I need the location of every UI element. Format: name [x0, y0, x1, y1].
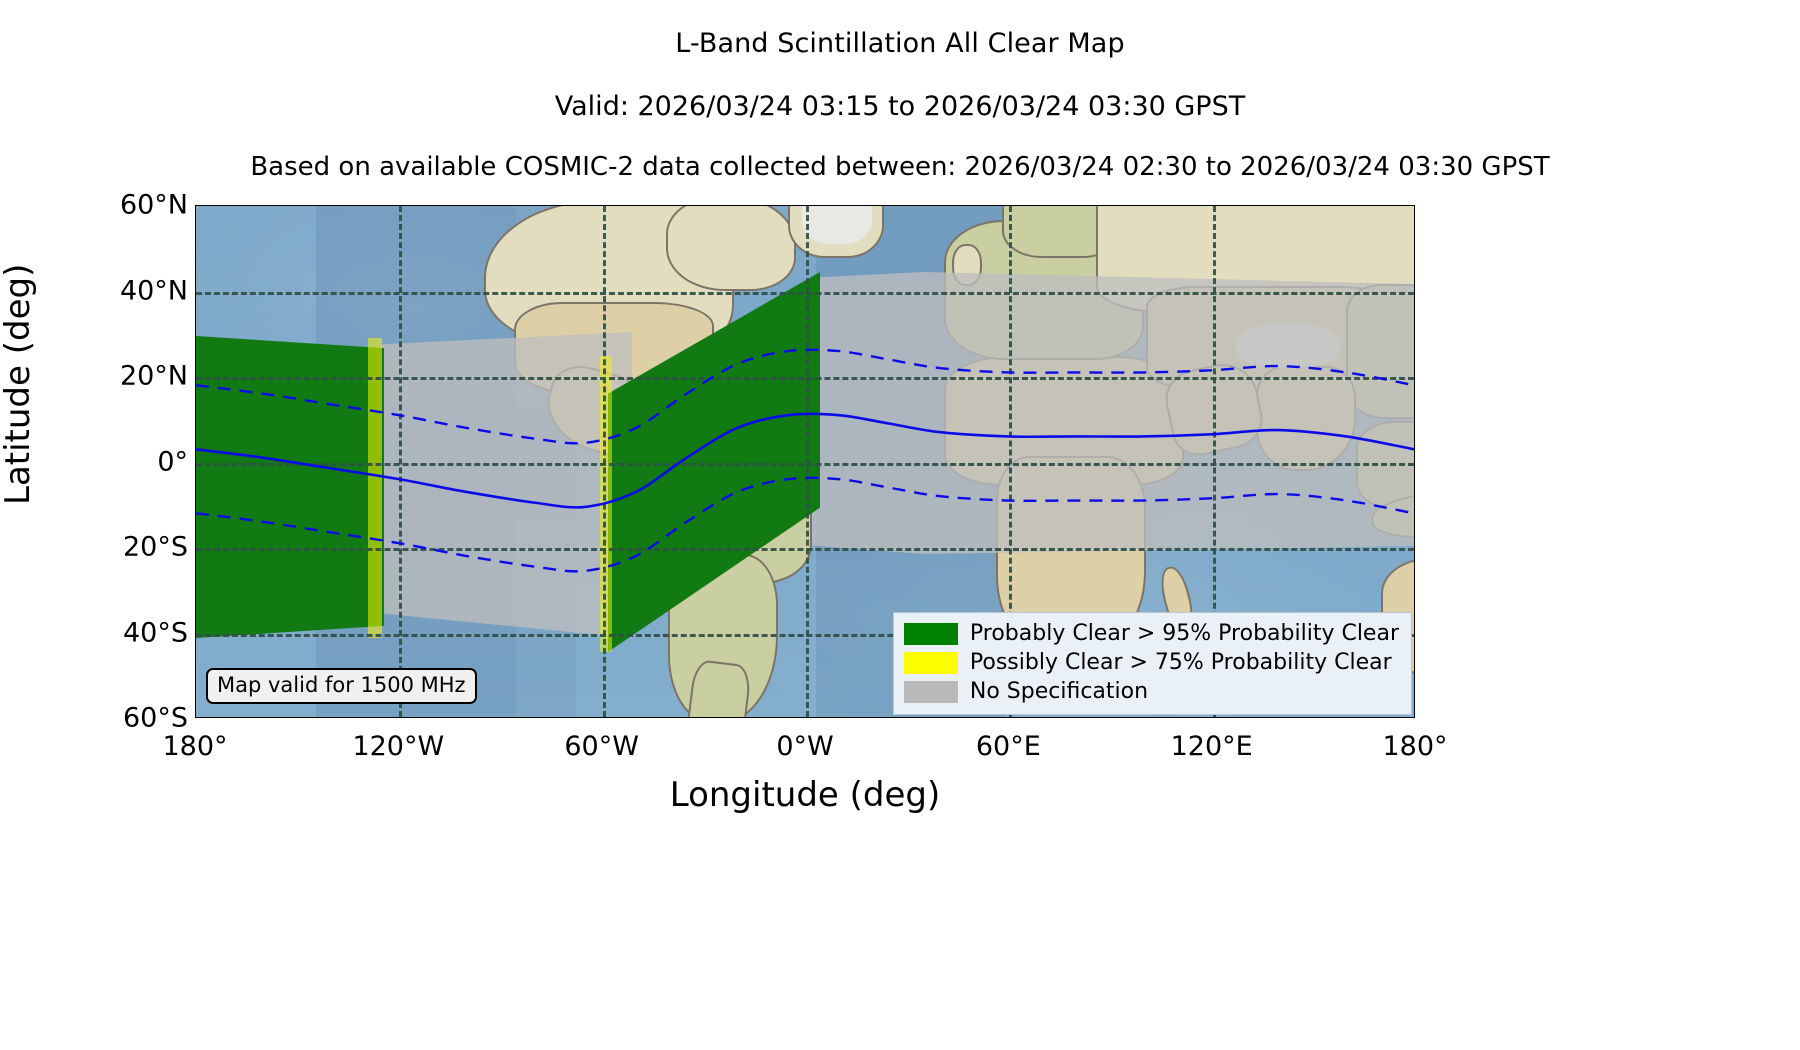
legend-label-no-specification: No Specification: [970, 679, 1148, 704]
legend-label-probably-clear: Probably Clear > 95% Probability Clear: [970, 621, 1399, 646]
frequency-annotation: Map valid for 1500 MHz: [206, 668, 477, 704]
data-source-note: Based on available COSMIC-2 data collect…: [0, 152, 1800, 182]
x-tick-1: [399, 717, 401, 718]
page-title: L-Band Scintillation All Clear Map: [0, 28, 1800, 59]
x-tick-2: [603, 717, 605, 718]
map-plot-area[interactable]: Map valid for 1500 MHz Probably Clear > …: [195, 205, 1415, 718]
y-tick-4: [195, 548, 196, 550]
legend-item-no-specification: No Specification: [904, 677, 1399, 706]
magnetic-equator-curve: [196, 414, 1414, 508]
y-axis-title: Latitude (deg): [0, 264, 38, 505]
northern-boundary-curve: [196, 350, 1414, 444]
southern-boundary-curve: [196, 478, 1414, 572]
y-tick-label-6: 60°S: [0, 703, 188, 734]
title-block: L-Band Scintillation All Clear Map Valid…: [0, 0, 1800, 182]
x-tick-4: [1009, 717, 1011, 718]
legend-swatch-yellow: [904, 652, 958, 674]
legend-swatch-green: [904, 623, 958, 645]
legend-item-probably-clear: Probably Clear > 95% Probability Clear: [904, 619, 1399, 648]
x-tick-label-6: 180°: [1265, 731, 1565, 762]
y-tick-label-4: 20°S: [0, 532, 188, 563]
y-tick-1: [195, 292, 196, 294]
x-axis-title: Longitude (deg): [670, 775, 941, 815]
legend: Probably Clear > 95% Probability Clear P…: [893, 612, 1412, 715]
legend-item-possibly-clear: Possibly Clear > 75% Probability Clear: [904, 648, 1399, 677]
legend-swatch-gray: [904, 681, 958, 703]
x-tick-3: [806, 717, 808, 718]
valid-period: Valid: 2026/03/24 03:15 to 2026/03/24 03…: [0, 91, 1800, 122]
y-tick-0: [195, 206, 196, 208]
x-tick-5: [1213, 717, 1215, 718]
x-tick-0: [196, 717, 198, 718]
y-tick-3: [195, 463, 196, 465]
y-tick-2: [195, 377, 196, 379]
y-tick-5: [195, 634, 196, 636]
legend-label-possibly-clear: Possibly Clear > 75% Probability Clear: [970, 650, 1392, 675]
y-tick-label-5: 40°S: [0, 617, 188, 648]
y-tick-label-0: 60°N: [0, 190, 188, 221]
